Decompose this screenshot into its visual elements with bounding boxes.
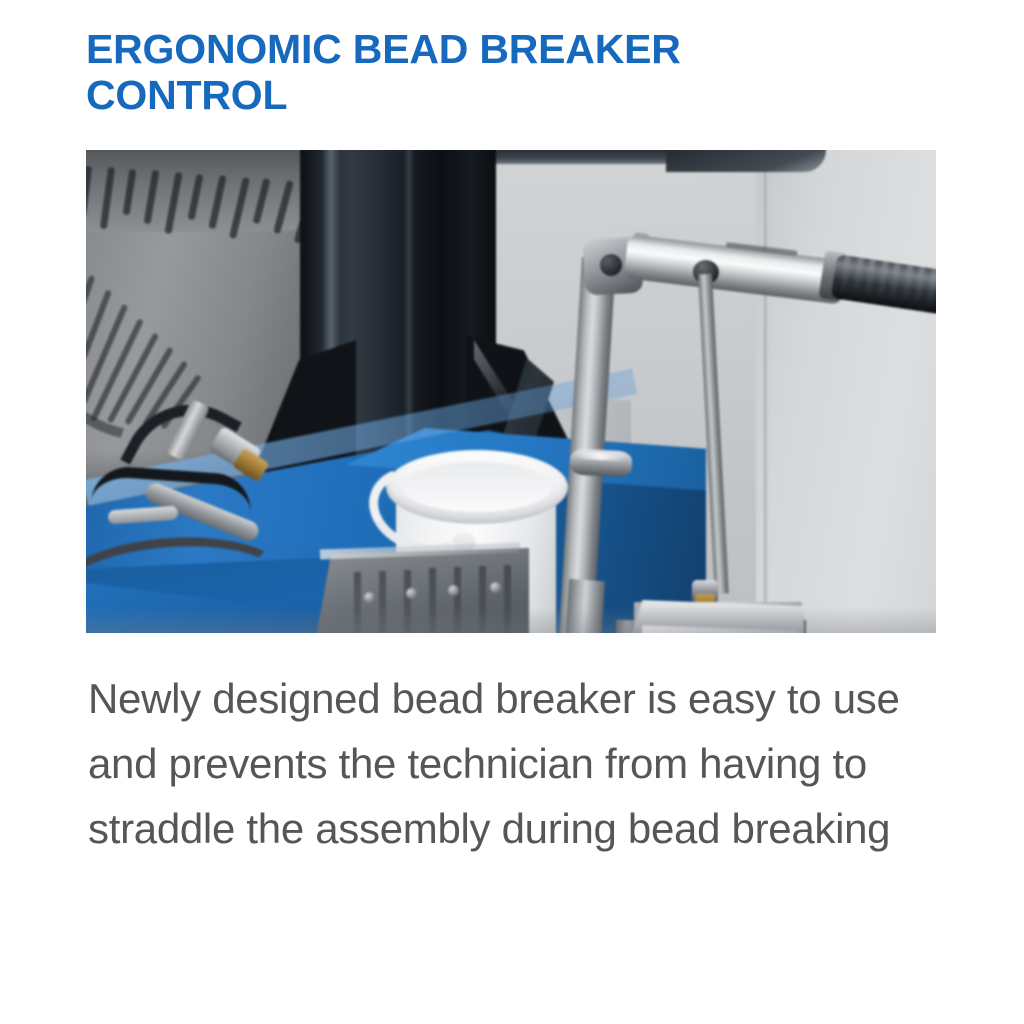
feature-description: Newly designed bead breaker is easy to u… [88, 666, 968, 861]
handle-grip-rib [888, 263, 900, 307]
handle-grip-rib [839, 255, 851, 299]
feature-photo [86, 150, 936, 633]
handle-grip-rib [913, 267, 925, 311]
overhead-dark-bar-right [666, 150, 826, 172]
handle-grip-rib [863, 259, 875, 303]
floor-shadow [86, 607, 936, 633]
tire-sipe [100, 167, 115, 229]
tire-sipe [123, 169, 137, 216]
cast-block-bolt [406, 588, 417, 599]
background-wall-right-panel [756, 150, 936, 633]
cast-block-bolt [490, 582, 501, 593]
cast-block-bolt [364, 592, 375, 603]
tire-sipe [86, 165, 92, 219]
photo-scene [86, 150, 936, 633]
handle-grip-rib [900, 265, 912, 309]
handle-grip-rib [876, 261, 888, 305]
arm-knuckle-bolt [600, 254, 622, 276]
handle-grip-rib [925, 268, 936, 312]
cast-block-bolt [448, 585, 459, 596]
wall-seam-line [764, 150, 768, 633]
handle-grip-rib [851, 257, 863, 301]
page-title: ERGONOMIC BEAD BREAKER CONTROL [86, 26, 966, 118]
feature-card: ERGONOMIC BEAD BREAKER CONTROL [0, 0, 1024, 1024]
